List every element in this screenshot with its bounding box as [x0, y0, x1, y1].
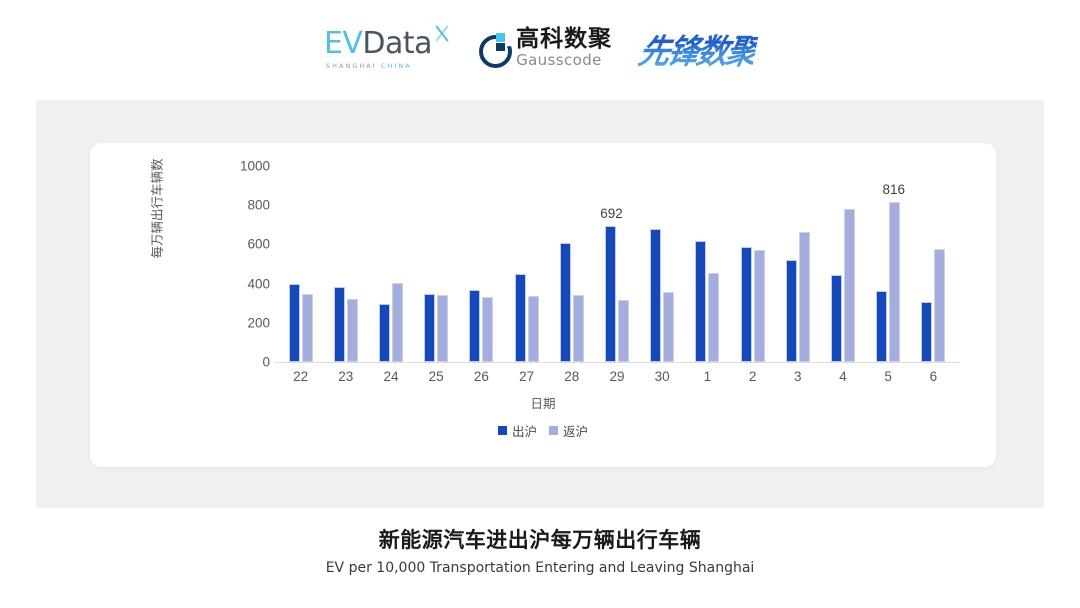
bar-出沪-29[interactable] — [605, 226, 616, 362]
evdata-tagline-china: CHINA — [381, 62, 412, 70]
bar-出沪-6[interactable] — [921, 302, 932, 362]
bar-返沪-6[interactable] — [934, 249, 945, 362]
bar-返沪-3[interactable] — [799, 232, 810, 362]
bar-group: 692 — [594, 166, 640, 362]
y-tick-label: 800 — [224, 198, 270, 213]
y-tick-label: 0 — [224, 355, 270, 370]
chart-card: 每万辆出行车辆数 02004006008001000 692816 222324… — [90, 143, 996, 467]
bar-出沪-4[interactable] — [831, 275, 842, 362]
x-tick-label: 1 — [684, 369, 730, 384]
legend-item-返沪[interactable]: 返沪 — [549, 421, 588, 440]
y-axis-ticks: 02004006008001000 — [224, 143, 270, 467]
x-axis-ticks: 222324252627282930123456 — [278, 369, 956, 391]
xianfeng-logo: 先锋数聚 — [640, 26, 756, 71]
bar-返沪-23[interactable] — [347, 299, 358, 363]
legend-label: 出沪 — [512, 421, 537, 440]
x-axis-title: 日期 — [90, 393, 996, 412]
bar-出沪-1[interactable] — [695, 241, 706, 362]
bar-返沪-25[interactable] — [437, 295, 448, 362]
y-tick-label: 600 — [224, 237, 270, 252]
bar-返沪-27[interactable] — [528, 296, 539, 362]
bar-group — [458, 166, 504, 362]
x-tick-label: 5 — [865, 369, 911, 384]
bar-返沪-22[interactable] — [302, 294, 313, 362]
evdata-wordmark: EV Data — [324, 29, 453, 59]
bar-返沪-1[interactable] — [708, 273, 719, 362]
bar-出沪-2[interactable] — [741, 247, 752, 362]
bar-出沪-26[interactable] — [469, 290, 480, 362]
bar-group — [278, 166, 324, 362]
bar-出沪-23[interactable] — [334, 287, 345, 362]
caption-title-en: EV per 10,000 Transportation Entering an… — [0, 560, 1080, 576]
bar-出沪-28[interactable] — [560, 243, 571, 362]
bar-chart: 每万辆出行车辆数 02004006008001000 692816 222324… — [90, 143, 996, 467]
bar-group — [504, 166, 550, 362]
bar-group — [775, 166, 821, 362]
gausscode-wordmark: 高科数聚 Gausscode — [516, 28, 612, 68]
x-tick-label: 4 — [820, 369, 866, 384]
x-tick-label: 29 — [594, 369, 640, 384]
bar-group — [413, 166, 459, 362]
evdata-word-data: Data — [362, 29, 432, 59]
y-tick-label: 1000 — [224, 159, 270, 174]
bar-group — [684, 166, 730, 362]
legend-swatch-icon — [549, 426, 558, 435]
plot-area: 692816 — [278, 166, 956, 362]
bar-出沪-5[interactable] — [876, 291, 887, 362]
legend-item-出沪[interactable]: 出沪 — [498, 421, 537, 440]
x-tick-label: 2 — [730, 369, 776, 384]
y-tick-label: 200 — [224, 315, 270, 330]
logo-bar: EV Data SHANGHAI CHINA 高科数聚 Gausscode 先锋… — [0, 0, 1080, 96]
bar-出沪-25[interactable] — [424, 294, 435, 362]
bar-group — [639, 166, 685, 362]
bar-返沪-30[interactable] — [663, 292, 674, 362]
x-tick-label: 26 — [458, 369, 504, 384]
evdata-word-ev: EV — [324, 29, 362, 59]
bar-返沪-24[interactable] — [392, 283, 403, 362]
evdata-tagline: SHANGHAI CHINA — [326, 62, 412, 70]
bar-出沪-3[interactable] — [786, 260, 797, 362]
bar-group — [910, 166, 956, 362]
bar-value-label: 816 — [882, 182, 905, 197]
evdata-tagline-shanghai: SHANGHAI — [326, 62, 381, 70]
legend-swatch-icon — [498, 426, 507, 435]
xianfeng-name-cn: 先锋数聚 — [635, 24, 760, 73]
caption-title-cn: 新能源汽车进出沪每万辆出行车辆 — [0, 528, 1080, 553]
y-tick-label: 400 — [224, 276, 270, 291]
x-tick-label: 6 — [910, 369, 956, 384]
bar-group — [549, 166, 595, 362]
bar-返沪-28[interactable] — [573, 295, 584, 362]
bar-出沪-30[interactable] — [650, 229, 661, 362]
gausscode-name-cn: 高科数聚 — [516, 28, 612, 51]
bar-group: 816 — [865, 166, 911, 362]
gausscode-name-en: Gausscode — [516, 53, 612, 68]
bar-group — [820, 166, 866, 362]
x-axis-line — [274, 362, 960, 363]
x-tick-label: 25 — [413, 369, 459, 384]
x-tick-label: 28 — [549, 369, 595, 384]
bar-出沪-27[interactable] — [515, 274, 526, 362]
bar-出沪-22[interactable] — [289, 284, 300, 362]
gausscode-logo: 高科数聚 Gausscode — [479, 28, 612, 68]
y-axis-title: 每万辆出行车辆数 — [147, 139, 166, 279]
bar-value-label: 692 — [600, 206, 623, 221]
x-tick-label: 27 — [504, 369, 550, 384]
x-tick-label: 30 — [639, 369, 685, 384]
bar-返沪-2[interactable] — [754, 250, 765, 362]
evdata-logo: EV Data SHANGHAI CHINA — [324, 29, 453, 70]
legend-label: 返沪 — [563, 421, 588, 440]
bar-返沪-29[interactable] — [618, 300, 629, 362]
bar-出沪-24[interactable] — [379, 304, 390, 362]
bar-返沪-26[interactable] — [482, 297, 493, 362]
x-tick-label: 3 — [775, 369, 821, 384]
bar-返沪-5[interactable] — [889, 202, 900, 362]
bar-返沪-4[interactable] — [844, 209, 855, 362]
gausscode-mark-icon — [479, 33, 509, 63]
x-tick-label: 22 — [278, 369, 324, 384]
x-spark-icon — [433, 24, 453, 44]
chart-panel: 每万辆出行车辆数 02004006008001000 692816 222324… — [36, 100, 1044, 508]
x-tick-label: 23 — [323, 369, 369, 384]
x-tick-label: 24 — [368, 369, 414, 384]
chart-legend: 出沪返沪 — [90, 421, 996, 440]
bar-group — [730, 166, 776, 362]
caption-block: 新能源汽车进出沪每万辆出行车辆 EV per 10,000 Transporta… — [0, 528, 1080, 576]
bar-group — [323, 166, 369, 362]
bar-group — [368, 166, 414, 362]
